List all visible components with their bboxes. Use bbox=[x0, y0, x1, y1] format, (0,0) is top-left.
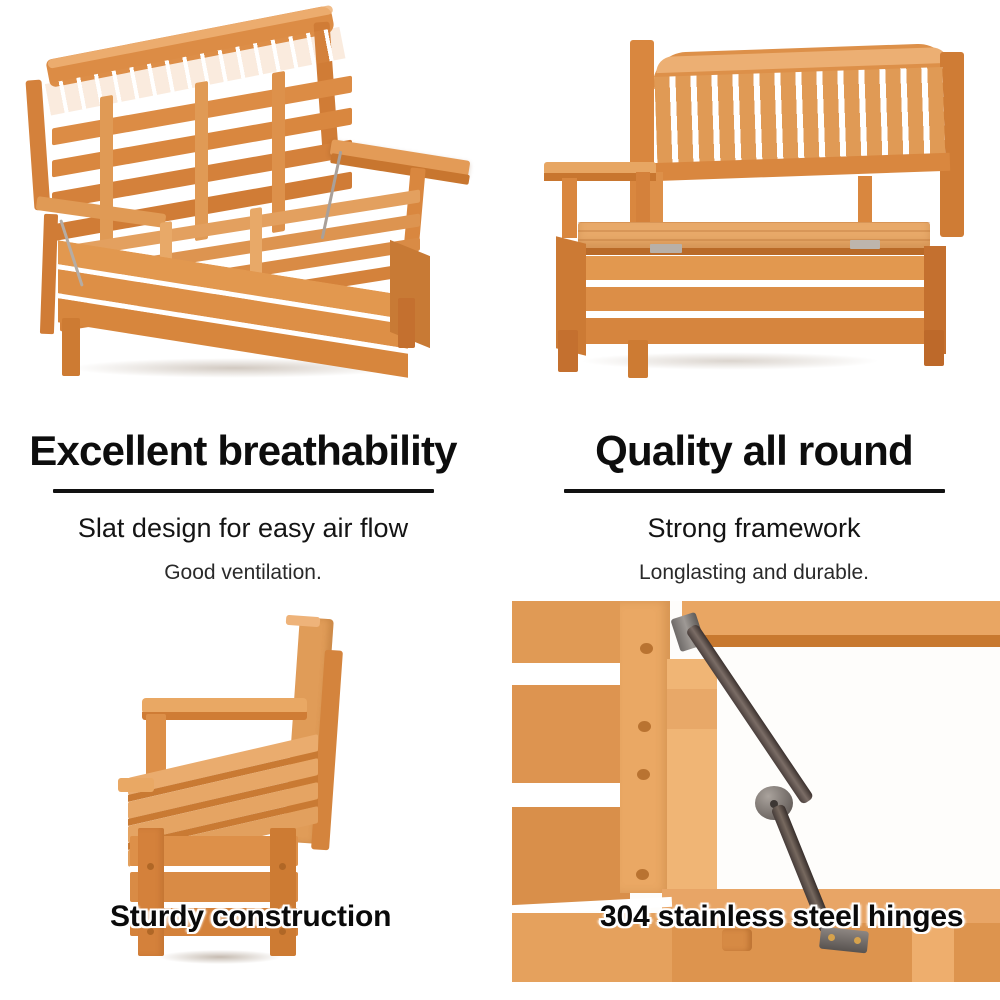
closed-storage-bench-photo bbox=[500, 0, 1000, 420]
feature-heading: Excellent breathability bbox=[0, 430, 486, 472]
heading-divider bbox=[564, 489, 945, 493]
caption-stainless-hinges: 304 stainless steel hinges bbox=[600, 900, 963, 934]
feature-block-breathability: Excellent breathability Slat design for … bbox=[0, 430, 486, 584]
feature-block-quality: Quality all round Strong framework Longl… bbox=[508, 430, 1000, 584]
feature-detail: Longlasting and durable. bbox=[508, 561, 1000, 584]
infographic-canvas: Excellent breathability Slat design for … bbox=[0, 0, 1000, 1000]
feature-subheading: Strong framework bbox=[508, 514, 1000, 544]
open-storage-bench-photo bbox=[0, 0, 500, 420]
feature-subheading: Slat design for easy air flow bbox=[0, 514, 486, 544]
feature-detail: Good ventilation. bbox=[0, 561, 486, 584]
feature-heading: Quality all round bbox=[508, 430, 1000, 472]
caption-sturdy-construction: Sturdy construction bbox=[110, 900, 391, 934]
heading-divider bbox=[53, 489, 434, 493]
